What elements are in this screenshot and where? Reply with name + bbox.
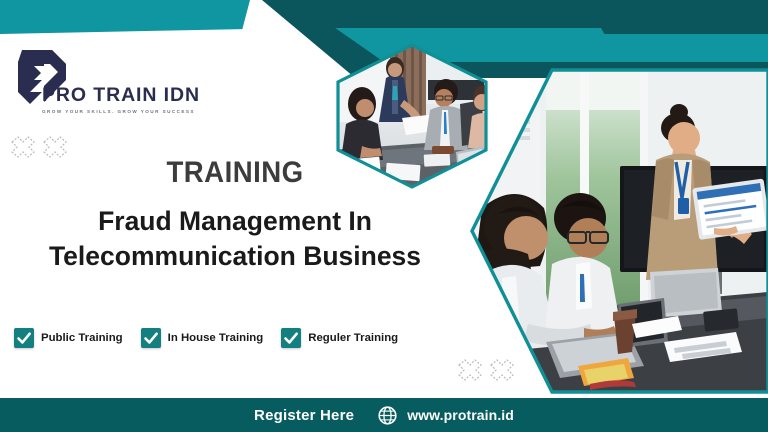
page-title: Fraud Management In Telecommunication Bu… [0, 204, 470, 274]
training-options-row: Public Training In House Training Regule… [14, 328, 398, 348]
training-presentation-photo [468, 66, 768, 396]
training-option-label: Reguler Training [308, 332, 398, 344]
band-dark-upper [262, 0, 768, 30]
check-glyph [14, 328, 34, 348]
website-url: www.protrain.id [407, 407, 514, 423]
footer-bar: Register Here www.protrain.id [0, 398, 768, 432]
training-option-label: In House Training [168, 332, 264, 344]
globe-icon [378, 406, 397, 425]
checkbox-checked-icon[interactable] [281, 328, 301, 348]
brand-logo[interactable]: PRO TRAIN IDN GROW YOUR SKILLS. GROW YOU… [14, 48, 184, 126]
band-light-right [560, 34, 768, 62]
training-option-label: Public Training [41, 332, 123, 344]
website-link[interactable]: www.protrain.id [378, 406, 514, 425]
check-glyph [141, 328, 161, 348]
brand-logo-text: PRO TRAIN IDN GROW YOUR SKILLS. GROW YOU… [42, 86, 187, 114]
brand-tagline: GROW YOUR SKILLS. GROW YOUR SUCCESS [42, 110, 187, 115]
headline-block: TRAINING Fraud Management In Telecommuni… [0, 158, 470, 274]
eyebrow-label: TRAINING [19, 158, 451, 188]
register-here-cta[interactable]: Register Here [254, 407, 354, 424]
training-option-public[interactable]: Public Training [14, 328, 123, 348]
brand-name: PRO TRAIN IDN [42, 86, 187, 106]
band-dark-top [0, 0, 768, 28]
training-option-in-house[interactable]: In House Training [141, 328, 264, 348]
training-promo-banner: PRO TRAIN IDN GROW YOUR SKILLS. GROW YOU… [0, 0, 768, 432]
checkbox-checked-icon[interactable] [141, 328, 161, 348]
checkbox-checked-icon[interactable] [14, 328, 34, 348]
check-glyph [281, 328, 301, 348]
training-option-reguler[interactable]: Reguler Training [281, 328, 398, 348]
